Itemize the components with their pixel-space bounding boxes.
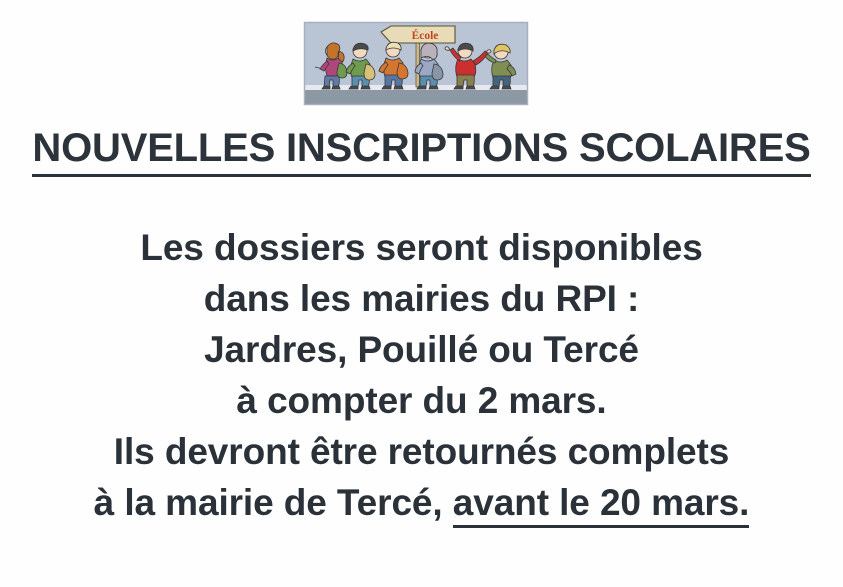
children-walking-to-school-icon: École xyxy=(303,21,529,106)
page-title: NOUVELLES INSCRIPTIONS SCOLAIRES xyxy=(0,128,843,177)
page-title-text: NOUVELLES INSCRIPTIONS SCOLAIRES xyxy=(32,128,810,177)
body-line-3: Jardres, Pouillé ou Tercé xyxy=(0,324,843,375)
notice-page: École xyxy=(0,0,843,587)
body-line-4: à compter du 2 mars. xyxy=(0,375,843,426)
clipart-svg: École xyxy=(303,21,529,106)
body-line-5: Ils devront être retournés complets xyxy=(0,426,843,477)
body-line-2: dans les mairies du RPI : xyxy=(0,273,843,324)
ecole-sign-label: École xyxy=(412,28,439,42)
body-line-6-plain: à la mairie de Tercé, xyxy=(94,482,453,523)
body-line-1: Les dossiers seront disponibles xyxy=(0,222,843,273)
body-line-6: à la mairie de Tercé, avant le 20 mars. xyxy=(0,477,843,528)
notice-body: Les dossiers seront disponibles dans les… xyxy=(0,222,843,528)
body-line-6-emphasis: avant le 20 mars. xyxy=(453,482,750,528)
